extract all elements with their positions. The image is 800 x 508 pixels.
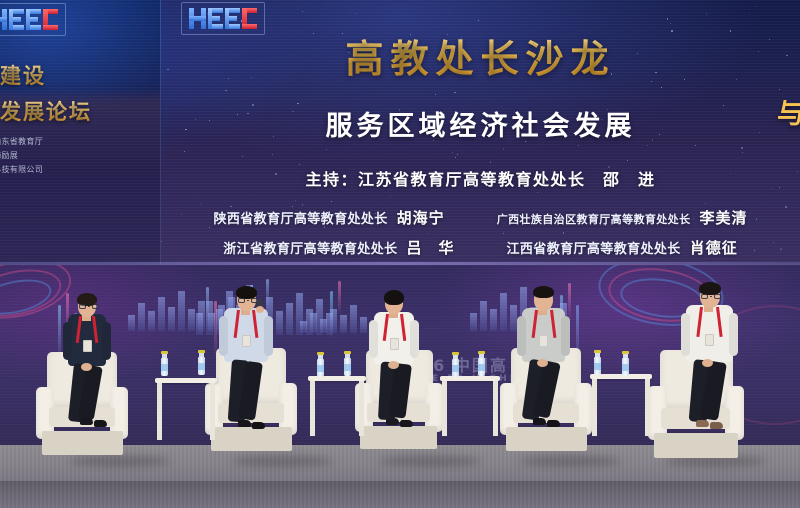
left-side-banner <box>0 0 161 265</box>
person-hand-mic <box>256 306 264 313</box>
person-hair <box>533 286 554 298</box>
panelist-name: 肖德征 <box>690 237 738 258</box>
person-shoe-near <box>386 418 399 425</box>
person-shoe-far <box>547 420 560 427</box>
person-hair <box>384 290 404 305</box>
eyeglasses <box>238 298 258 303</box>
panelist-name: 李美清 <box>700 207 748 228</box>
person-arm-left <box>369 320 378 358</box>
heec-letter-e2-icon <box>26 9 41 30</box>
person-shoe-near <box>238 420 251 427</box>
side-table <box>155 378 217 440</box>
person-arm-right <box>102 322 111 360</box>
neon-bar <box>266 279 269 309</box>
left-banner-small-line-2: 大学、国药励展 <box>0 150 18 161</box>
left-banner-small-line-3: 属腾教育科技有限公司 <box>0 164 43 175</box>
bottle-label <box>478 364 485 371</box>
table-leg-left <box>310 381 315 436</box>
person-arm-right <box>410 320 419 358</box>
host-line: 主持：江苏省教育厅高等教育处处长 邵 进 <box>161 166 800 190</box>
person-shoe-near <box>533 418 546 425</box>
water-bottle <box>317 352 324 372</box>
chair-base <box>506 427 587 451</box>
panelist-name: 胡海宁 <box>397 207 445 228</box>
panelist-entry: 浙江省教育厅高等教育处处长 吕 华 <box>223 237 454 258</box>
heec-letter-c-icon <box>43 9 58 30</box>
panelist-entry: 陕西省教育厅高等教育处处长 胡海宁 <box>213 207 444 228</box>
heec-letter-c-icon <box>242 8 257 29</box>
person-hair <box>699 282 721 295</box>
chair-base <box>211 427 292 451</box>
table-leg-right <box>493 381 498 436</box>
person-shoe-near <box>696 420 709 427</box>
person-arm-right <box>561 316 570 356</box>
person-shoe-far <box>94 420 107 427</box>
panelist-row: 陕西省教育厅高等教育处处长 胡海宁 广西壮族自治区教育厅高等教育处处长 李美清 <box>161 207 800 228</box>
person-arm-left <box>517 316 526 356</box>
event-subtitle: 服务区域经济社会发展 <box>161 104 800 143</box>
heec-logo-center <box>185 5 261 32</box>
table-leg-right <box>210 383 215 440</box>
person-shoe-far <box>252 422 265 429</box>
water-bottle <box>478 351 485 371</box>
neon-swirl <box>0 265 77 328</box>
person-shoe-far <box>400 420 413 427</box>
person-hands-clasped <box>702 359 713 367</box>
person-arm-right <box>729 313 738 356</box>
water-bottle <box>452 352 459 372</box>
panelist-name: 吕 华 <box>406 237 454 258</box>
person-shoe-near <box>80 418 93 425</box>
neon-swirl <box>0 274 55 321</box>
neon-swirl <box>0 265 66 324</box>
left-banner-gold-line-1: 大学建设 <box>0 60 46 90</box>
person-shoe-far <box>710 422 723 429</box>
bottle-label <box>452 365 459 372</box>
heec-letter-e2-icon <box>225 8 240 29</box>
floor-shadow <box>520 455 620 467</box>
heec-letter-h-icon <box>0 9 7 30</box>
table-top <box>155 378 217 383</box>
chair-base <box>42 431 123 455</box>
person-arm-left <box>681 313 690 356</box>
water-bottle <box>594 350 601 370</box>
left-banner-gold-line-2: 社会发展论坛 <box>0 96 92 126</box>
panelist-entry: 江西省教育厅高等教育处处长 肖德征 <box>507 237 738 258</box>
heec-letter-h-icon <box>189 8 206 29</box>
side-table <box>440 376 500 436</box>
panelist-row: 浙江省教育厅高等教育处处长 吕 华 江西省教育厅高等教育处处长 肖德征 <box>161 237 800 258</box>
neon-bar <box>330 291 333 339</box>
water-bottle <box>344 351 351 371</box>
name-badge <box>705 334 714 346</box>
table-leg-left <box>442 381 447 436</box>
panelist-title: 江西省教育厅高等教育处处长 <box>507 238 681 257</box>
person-arm-left <box>63 322 72 360</box>
heec-letter-e1-icon <box>9 9 24 30</box>
floor-shadow <box>380 455 480 467</box>
table-top <box>440 376 500 381</box>
bottle-label <box>317 365 324 372</box>
neon-bar <box>568 283 571 321</box>
floor-shadow <box>232 455 332 467</box>
table-top <box>308 376 366 381</box>
person-hands-clasped <box>81 363 92 371</box>
table-leg-right <box>645 379 650 436</box>
name-badge <box>83 340 92 352</box>
bottle-label <box>622 364 629 371</box>
bottle-label <box>161 364 168 371</box>
conference-photo: 大学建设 社会发展论坛 育学会、山东省教育厅 大学、国药励展 属腾教育科技有限公… <box>0 0 800 508</box>
eyeglasses <box>79 304 99 309</box>
panelist-title: 浙江省教育厅高等教育处处长 <box>223 238 397 257</box>
neon-bar <box>338 281 341 315</box>
water-bottle <box>161 351 168 371</box>
panelist-title: 陕西省教育厅高等教育处处长 <box>213 208 387 227</box>
name-badge <box>242 335 251 347</box>
table-leg-left <box>157 383 162 440</box>
skyline-silhouette <box>300 305 367 333</box>
table-leg-left <box>592 379 597 436</box>
bottle-label <box>594 363 601 370</box>
chair-base <box>360 426 437 449</box>
table-leg-right <box>359 381 364 436</box>
stage-floor-edge <box>0 481 800 508</box>
panelist-title: 广西壮族自治区教育厅高等教育处处长 <box>497 211 691 227</box>
water-bottle <box>198 350 205 370</box>
person-hands-clasped <box>388 361 399 369</box>
neon-bar <box>206 287 209 329</box>
chair-base <box>654 433 738 458</box>
person-arm-right <box>264 316 273 356</box>
name-badge <box>390 338 399 350</box>
heec-logo-left <box>0 6 62 33</box>
event-main-title: 高教处长沙龙 <box>161 28 800 83</box>
side-table <box>308 376 366 436</box>
heec-letter-e1-icon <box>208 8 223 29</box>
person-hands-clasped <box>537 359 548 367</box>
panelist-list: 陕西省教育厅高等教育处处长 胡海宁 广西壮族自治区教育厅高等教育处处长 李美清 … <box>161 207 800 267</box>
bottle-label <box>198 363 205 370</box>
person-arm-left <box>219 316 228 356</box>
name-badge <box>539 335 548 347</box>
side-table <box>590 374 652 436</box>
left-banner-small-line-1: 育学会、山东省教育厅 <box>0 136 43 147</box>
right-edge-clipped-text: 与 <box>777 92 800 131</box>
eyeglasses <box>701 294 721 299</box>
panelist-entry: 广西壮族自治区教育厅高等教育处处长 李美清 <box>497 207 748 228</box>
water-bottle <box>622 351 629 371</box>
bottle-label <box>344 364 351 371</box>
